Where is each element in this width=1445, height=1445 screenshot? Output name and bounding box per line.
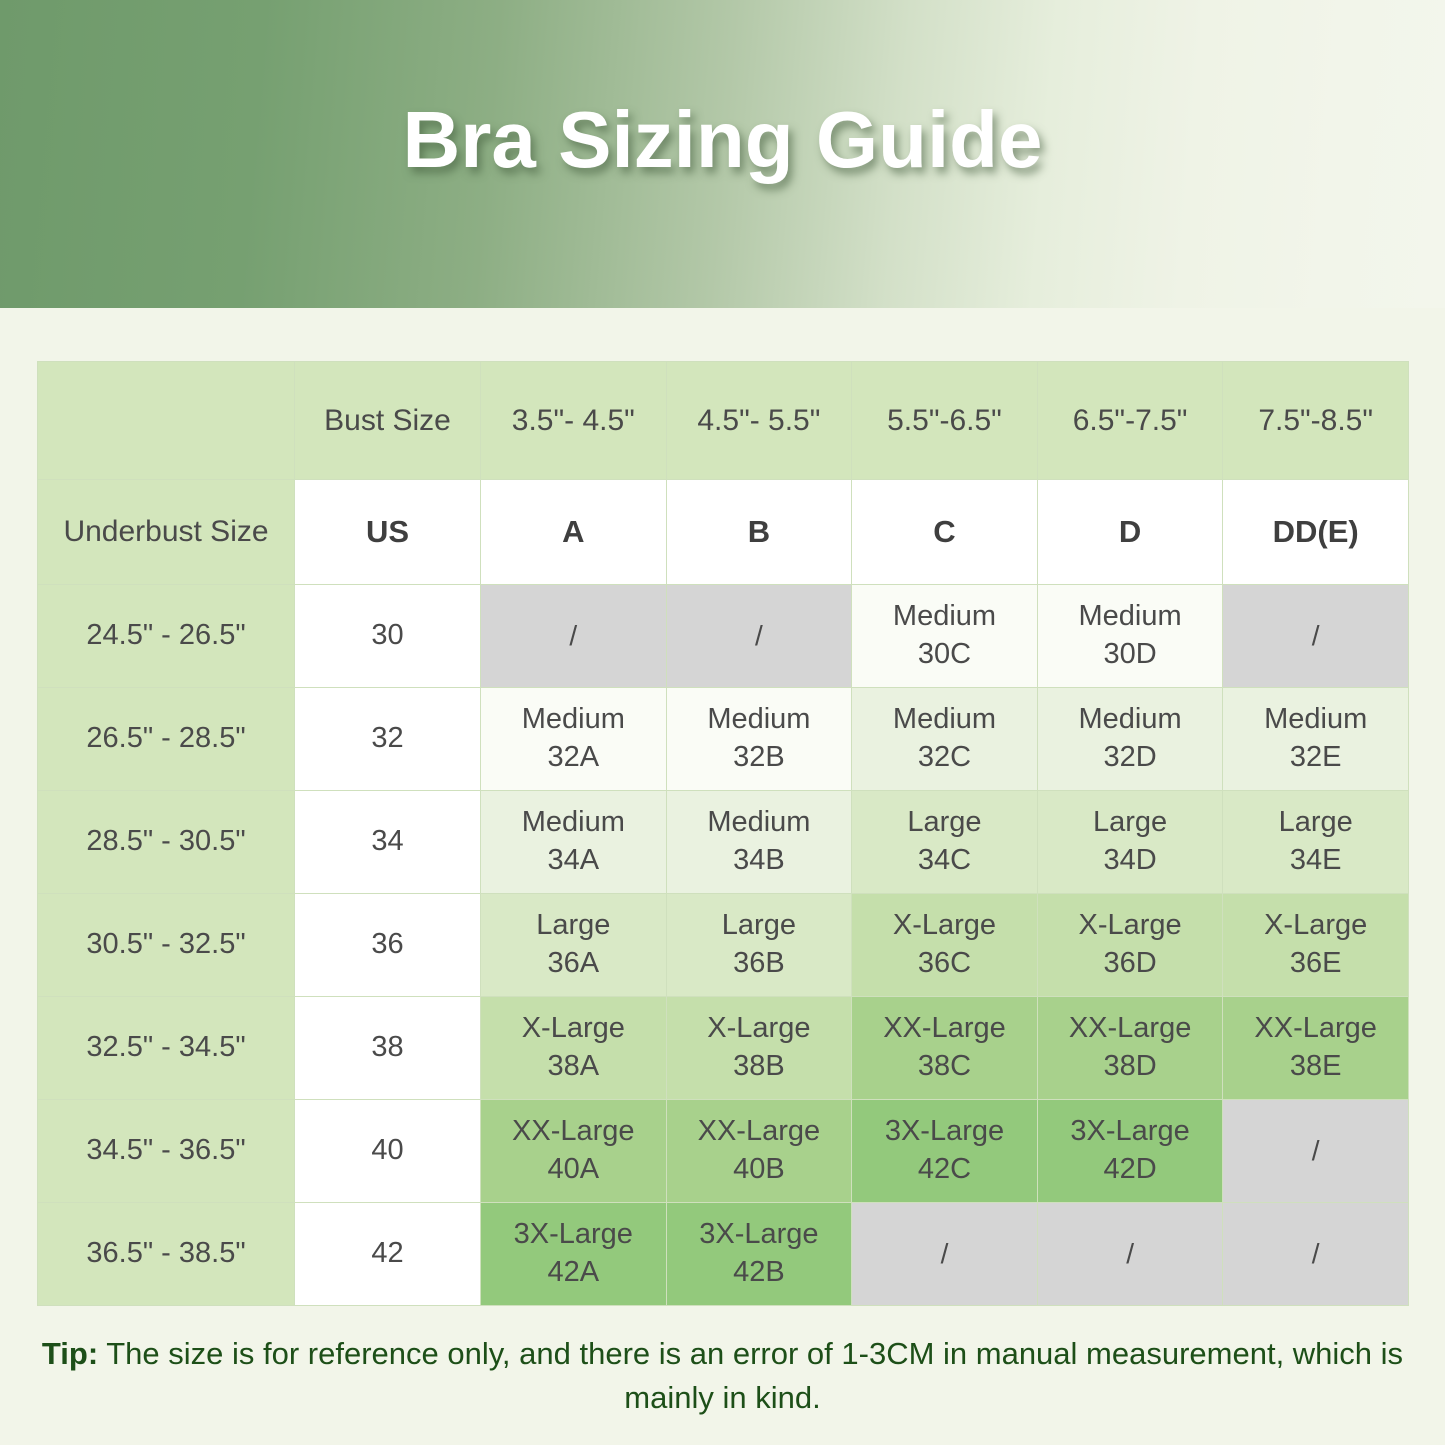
underbust-range-cell: 36.5" - 38.5" (38, 1203, 295, 1306)
table-row: 36.5" - 38.5"423X-Large42A3X-Large42B/// (38, 1203, 1409, 1306)
size-cell: Medium32D (1037, 688, 1223, 791)
table-corner-cell (38, 362, 295, 480)
cup-letter-header-4: DD(E) (1223, 480, 1409, 585)
table-row-bust-ranges: Bust Size3.5"- 4.5"4.5"- 5.5"5.5"-6.5"6.… (38, 362, 1409, 480)
size-tier-label: 3X-Large (852, 1113, 1037, 1151)
size-cell-unavailable: / (852, 1203, 1038, 1306)
size-tier-label: XX-Large (852, 1010, 1037, 1048)
size-cell-stack: Medium32B (667, 701, 852, 776)
size-code-label: 40B (667, 1151, 852, 1189)
size-code-label: 32D (1038, 739, 1223, 777)
size-cell: Medium32A (481, 688, 667, 791)
size-cell: Medium34A (481, 791, 667, 894)
size-code-label: 34D (1038, 842, 1223, 880)
tip-text: The size is for reference only, and ther… (98, 1336, 1403, 1415)
size-cell-stack: Large36A (481, 907, 666, 982)
us-band-size-cell: 32 (295, 688, 481, 791)
underbust-range-cell: 32.5" - 34.5" (38, 997, 295, 1100)
size-cell-stack: 3X-Large42C (852, 1113, 1037, 1188)
size-cell-unavailable: / (1223, 585, 1409, 688)
size-cell-stack: 3X-Large42B (667, 1216, 852, 1291)
size-cell-unavailable: / (1037, 1203, 1223, 1306)
size-cell-stack: Medium32E (1223, 701, 1408, 776)
size-code-label: 32A (481, 739, 666, 777)
size-tier-label: Large (1038, 804, 1223, 842)
size-code-label: 38B (667, 1048, 852, 1086)
size-tier-label: Medium (667, 701, 852, 739)
size-tier-label: 3X-Large (1038, 1113, 1223, 1151)
table-row: 32.5" - 34.5"38X-Large38AX-Large38BXX-La… (38, 997, 1409, 1100)
size-code-label: 40A (481, 1151, 666, 1189)
size-tier-label: XX-Large (1038, 1010, 1223, 1048)
size-tier-label: Medium (852, 598, 1037, 636)
size-cell-stack: Medium32A (481, 701, 666, 776)
size-tier-label: X-Large (667, 1010, 852, 1048)
not-available-label: / (1223, 618, 1408, 654)
size-code-label: 42B (667, 1254, 852, 1292)
table-row: 34.5" - 36.5"40XX-Large40AXX-Large40B3X-… (38, 1100, 1409, 1203)
bust-range-header-3: 6.5"-7.5" (1037, 362, 1223, 480)
table-row: 26.5" - 28.5"32Medium32AMedium32BMedium3… (38, 688, 1409, 791)
size-code-label: 36D (1038, 945, 1223, 983)
size-cell: X-Large38B (666, 997, 852, 1100)
not-available-label: / (852, 1236, 1037, 1272)
size-chart-table: Bust Size3.5"- 4.5"4.5"- 5.5"5.5"-6.5"6.… (37, 361, 1409, 1306)
size-cell: Medium30D (1037, 585, 1223, 688)
size-cell-stack: Large34D (1038, 804, 1223, 879)
bust-size-header: Bust Size (295, 362, 481, 480)
size-cell: 3X-Large42D (1037, 1100, 1223, 1203)
size-cell: Medium32B (666, 688, 852, 791)
size-code-label: 36B (667, 945, 852, 983)
size-tier-label: X-Large (1038, 907, 1223, 945)
size-code-label: 36E (1223, 945, 1408, 983)
tip-prefix: Tip: (42, 1336, 98, 1371)
size-tier-label: Medium (1223, 701, 1408, 739)
not-available-label: / (1223, 1236, 1408, 1272)
us-band-size-cell: 34 (295, 791, 481, 894)
size-cell: XX-Large38C (852, 997, 1038, 1100)
size-cell: Large34C (852, 791, 1038, 894)
size-cell-stack: Medium34B (667, 804, 852, 879)
size-tier-label: Large (667, 907, 852, 945)
size-tier-label: Large (852, 804, 1037, 842)
size-cell: 3X-Large42C (852, 1100, 1038, 1203)
size-tier-label: Medium (481, 701, 666, 739)
size-code-label: 30C (852, 636, 1037, 674)
size-tier-label: Large (481, 907, 666, 945)
size-cell-stack: Medium32C (852, 701, 1037, 776)
not-available-label: / (1223, 1133, 1408, 1169)
size-code-label: 34E (1223, 842, 1408, 880)
size-code-label: 38C (852, 1048, 1037, 1086)
page-title: Bra Sizing Guide (0, 94, 1445, 186)
bust-range-header-4: 7.5"-8.5" (1223, 362, 1409, 480)
size-cell: Medium30C (852, 585, 1038, 688)
size-cell-stack: Medium30D (1038, 598, 1223, 673)
size-code-label: 36C (852, 945, 1037, 983)
size-code-label: 42A (481, 1254, 666, 1292)
size-cell-unavailable: / (1223, 1100, 1409, 1203)
size-code-label: 32B (667, 739, 852, 777)
size-cell: X-Large36D (1037, 894, 1223, 997)
size-cell-stack: X-Large36C (852, 907, 1037, 982)
table-row-cup-letters: Underbust SizeUSABCDDD(E) (38, 480, 1409, 585)
us-band-size-cell: 38 (295, 997, 481, 1100)
cup-letter-header-3: D (1037, 480, 1223, 585)
size-code-label: 36A (481, 945, 666, 983)
table-row: 24.5" - 26.5"30//Medium30CMedium30D/ (38, 585, 1409, 688)
size-cell-stack: X-Large36E (1223, 907, 1408, 982)
size-cell: Large34E (1223, 791, 1409, 894)
size-cell-stack: Large36B (667, 907, 852, 982)
size-code-label: 38E (1223, 1048, 1408, 1086)
size-cell-stack: XX-Large38C (852, 1010, 1037, 1085)
size-cell-stack: Large34C (852, 804, 1037, 879)
size-code-label: 38D (1038, 1048, 1223, 1086)
us-band-size-cell: 30 (295, 585, 481, 688)
size-tier-label: Medium (667, 804, 852, 842)
size-code-label: 34C (852, 842, 1037, 880)
size-cell: XX-Large40A (481, 1100, 667, 1203)
size-code-label: 34A (481, 842, 666, 880)
underbust-range-cell: 34.5" - 36.5" (38, 1100, 295, 1203)
size-tier-label: Medium (481, 804, 666, 842)
size-cell: Large34D (1037, 791, 1223, 894)
bust-range-header-2: 5.5"-6.5" (852, 362, 1038, 480)
size-tier-label: XX-Large (667, 1113, 852, 1151)
size-code-label: 38A (481, 1048, 666, 1086)
underbust-range-cell: 26.5" - 28.5" (38, 688, 295, 791)
cup-letter-header-2: C (852, 480, 1038, 585)
size-code-label: 30D (1038, 636, 1223, 674)
size-cell: XX-Large38E (1223, 997, 1409, 1100)
not-available-label: / (667, 618, 852, 654)
size-cell: X-Large36C (852, 894, 1038, 997)
size-cell-stack: X-Large38A (481, 1010, 666, 1085)
size-cell-unavailable: / (1223, 1203, 1409, 1306)
size-cell: X-Large36E (1223, 894, 1409, 997)
size-cell: X-Large38A (481, 997, 667, 1100)
size-code-label: 42D (1038, 1151, 1223, 1189)
us-band-size-cell: 42 (295, 1203, 481, 1306)
size-code-label: 32C (852, 739, 1037, 777)
not-available-label: / (481, 618, 666, 654)
size-cell-stack: X-Large38B (667, 1010, 852, 1085)
us-header: US (295, 480, 481, 585)
tip-footer: Tip: The size is for reference only, and… (0, 1332, 1445, 1420)
bust-range-header-1: 4.5"- 5.5" (666, 362, 852, 480)
size-cell-stack: Medium30C (852, 598, 1037, 673)
table-row: 30.5" - 32.5"36Large36ALarge36BX-Large36… (38, 894, 1409, 997)
size-code-label: 42C (852, 1151, 1037, 1189)
not-available-label: / (1038, 1236, 1223, 1272)
size-tier-label: Medium (852, 701, 1037, 739)
underbust-range-cell: 30.5" - 32.5" (38, 894, 295, 997)
us-band-size-cell: 36 (295, 894, 481, 997)
size-cell-stack: 3X-Large42A (481, 1216, 666, 1291)
size-cell-stack: Medium32D (1038, 701, 1223, 776)
size-tier-label: Medium (1038, 701, 1223, 739)
size-cell: 3X-Large42A (481, 1203, 667, 1306)
size-table-container: Bust Size3.5"- 4.5"4.5"- 5.5"5.5"-6.5"6.… (37, 361, 1408, 1306)
size-tier-label: Medium (1038, 598, 1223, 636)
bust-range-header-0: 3.5"- 4.5" (481, 362, 667, 480)
size-cell-stack: Medium34A (481, 804, 666, 879)
size-cell: 3X-Large42B (666, 1203, 852, 1306)
size-cell-stack: 3X-Large42D (1038, 1113, 1223, 1188)
size-cell: Large36A (481, 894, 667, 997)
size-tier-label: XX-Large (1223, 1010, 1408, 1048)
cup-letter-header-0: A (481, 480, 667, 585)
size-code-label: 32E (1223, 739, 1408, 777)
size-tier-label: X-Large (852, 907, 1037, 945)
underbust-range-cell: 24.5" - 26.5" (38, 585, 295, 688)
size-cell: Large36B (666, 894, 852, 997)
size-cell-stack: XX-Large40B (667, 1113, 852, 1188)
size-cell: Medium32C (852, 688, 1038, 791)
size-tier-label: X-Large (481, 1010, 666, 1048)
size-cell-stack: X-Large36D (1038, 907, 1223, 982)
us-band-size-cell: 40 (295, 1100, 481, 1203)
header-banner: Bra Sizing Guide (0, 0, 1445, 308)
underbust-size-header: Underbust Size (38, 480, 295, 585)
size-cell-stack: Large34E (1223, 804, 1408, 879)
size-tier-label: 3X-Large (481, 1216, 666, 1254)
size-code-label: 34B (667, 842, 852, 880)
size-tier-label: X-Large (1223, 907, 1408, 945)
table-row: 28.5" - 30.5"34Medium34AMedium34BLarge34… (38, 791, 1409, 894)
underbust-range-cell: 28.5" - 30.5" (38, 791, 295, 894)
size-cell-unavailable: / (666, 585, 852, 688)
size-tier-label: XX-Large (481, 1113, 666, 1151)
bra-sizing-guide-page: Bra Sizing Guide Bust Size3.5"- 4.5"4.5"… (0, 0, 1445, 1445)
cup-letter-header-1: B (666, 480, 852, 585)
size-cell: XX-Large40B (666, 1100, 852, 1203)
size-cell: XX-Large38D (1037, 997, 1223, 1100)
size-cell-stack: XX-Large38E (1223, 1010, 1408, 1085)
size-cell-stack: XX-Large38D (1038, 1010, 1223, 1085)
size-cell: Medium32E (1223, 688, 1409, 791)
size-cell-stack: XX-Large40A (481, 1113, 666, 1188)
size-cell: Medium34B (666, 791, 852, 894)
size-tier-label: 3X-Large (667, 1216, 852, 1254)
size-cell-unavailable: / (481, 585, 667, 688)
size-tier-label: Large (1223, 804, 1408, 842)
